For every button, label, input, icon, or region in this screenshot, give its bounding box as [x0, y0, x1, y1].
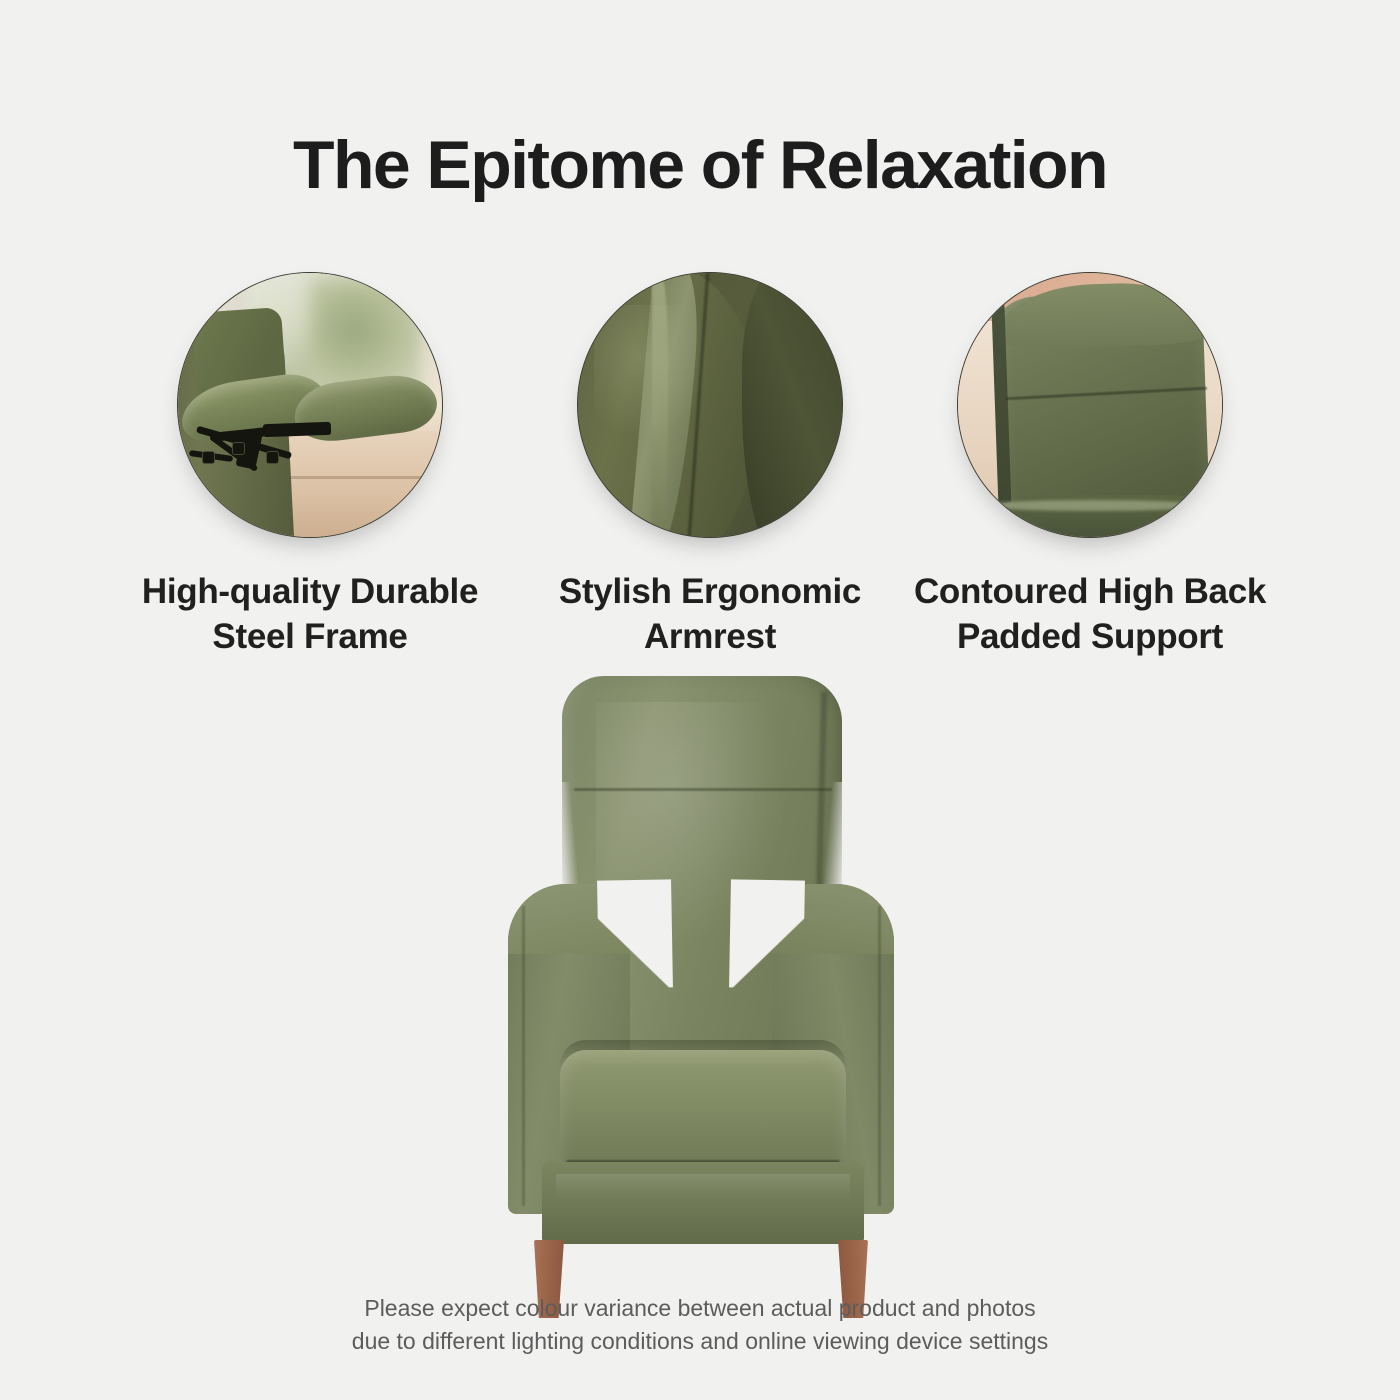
- chair-arm-left-seam: [522, 906, 525, 1206]
- chair-seat-cushion: [560, 1050, 846, 1170]
- feature-caption-line1: High-quality Durable: [110, 570, 510, 615]
- headrest-seam: [574, 788, 832, 791]
- steel-bolt-3: [202, 451, 215, 464]
- feature-image-high-back: [957, 272, 1223, 538]
- chair-base-skirt-highlight: [556, 1174, 850, 1200]
- chair-arm-left-slope-mask: [597, 879, 673, 988]
- colour-variance-disclaimer: Please expect colour variance between ac…: [0, 1292, 1400, 1357]
- feature-caption-line2: Steel Frame: [110, 615, 510, 660]
- steel-bolt-2: [266, 451, 279, 464]
- feature-image-wrap-steel-frame: [177, 272, 443, 538]
- feature-card-steel-frame: High-quality Durable Steel Frame: [110, 272, 510, 660]
- hero-product-image: [486, 662, 916, 1282]
- feature-caption-line2: Armrest: [510, 615, 910, 660]
- feature-image-steel-frame: [177, 272, 443, 538]
- feature-caption-line2: Padded Support: [890, 615, 1290, 660]
- feature-caption-line1: Stylish Ergonomic: [510, 570, 910, 615]
- chair-arm-highlight: [984, 500, 1200, 511]
- feature-caption-line1: Contoured High Back: [890, 570, 1290, 615]
- feature-card-ergonomic-armrest: Stylish Ergonomic Armrest: [510, 272, 910, 660]
- feature-caption-armrest: Stylish Ergonomic Armrest: [510, 570, 910, 660]
- chair-arm-right-slope-mask: [729, 879, 805, 988]
- steel-frame-mechanism: [189, 418, 358, 497]
- feature-image-wrap-high-back: [957, 272, 1223, 538]
- infographic-page: The Epitome of Relaxation: [0, 0, 1400, 1400]
- feature-caption-steel-frame: High-quality Durable Steel Frame: [110, 570, 510, 660]
- feature-highlights-row: High-quality Durable Steel Frame Stylish…: [0, 272, 1400, 672]
- page-title: The Epitome of Relaxation: [0, 126, 1400, 204]
- armrest-velvet-sheen: [594, 305, 710, 437]
- chair-arm-right-seam: [878, 906, 881, 1206]
- feature-caption-high-back: Contoured High Back Padded Support: [890, 570, 1290, 660]
- feature-image-wrap-armrest: [577, 272, 843, 538]
- disclaimer-line1: Please expect colour variance between ac…: [0, 1292, 1400, 1325]
- feature-image-armrest: [577, 272, 843, 538]
- armrest-inner-panel: [742, 272, 843, 538]
- steel-link-5: [263, 422, 331, 437]
- steel-bolt-1: [232, 442, 245, 455]
- disclaimer-line2: due to different lighting conditions and…: [0, 1325, 1400, 1358]
- feature-card-high-back-support: Contoured High Back Padded Support: [890, 272, 1290, 660]
